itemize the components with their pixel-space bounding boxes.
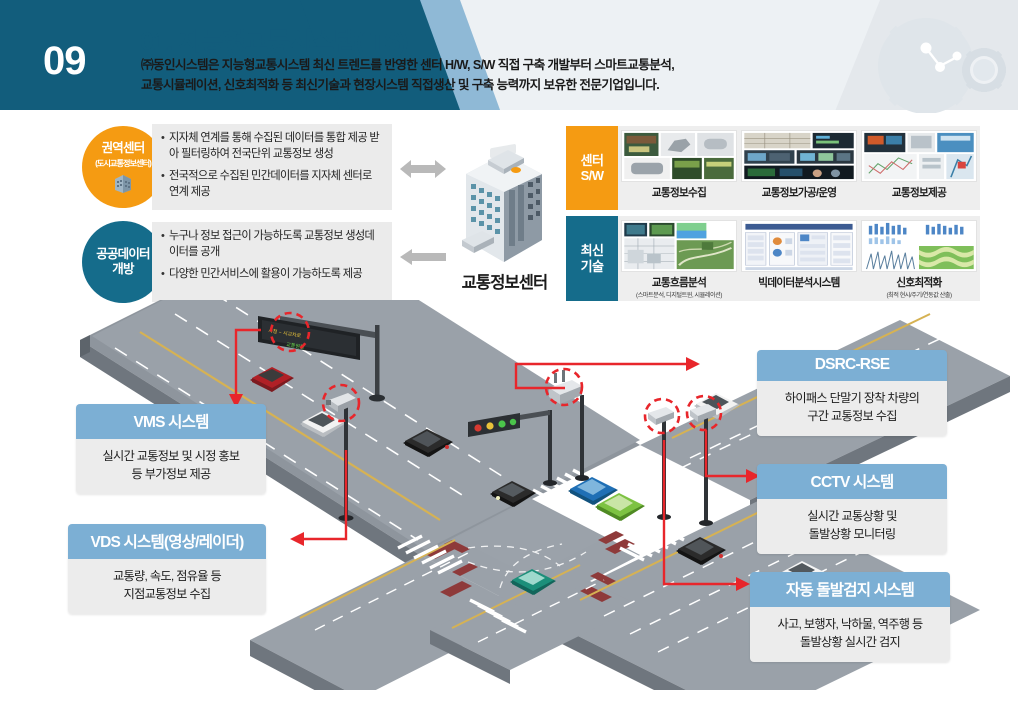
bullet-text: 다양한 민간서비스에 활용이 가능하도록 제공 [169, 267, 383, 283]
circle-regional-subtitle: (도시교통정보센터) [95, 157, 151, 169]
capability-caption: 교통흐름분석 [652, 275, 706, 290]
page-title: 01. 지능형교통시스템(ITS) [140, 22, 408, 58]
arrow-bidirectional-icon [400, 158, 446, 185]
callout-body: 사고, 보행자, 낙하물, 역주행 등 돌발상황 실시간 검지 [750, 607, 950, 662]
header-divider [0, 110, 1018, 113]
callout-body-line-1: 하이패스 단말기 장착 차량의 [763, 390, 941, 408]
tag-line-2: S/W [581, 168, 604, 183]
callout-title: VMS 시스템 [76, 404, 266, 439]
callout-body-line-1: 실시간 교통정보 및 시정 홍보 [82, 448, 260, 466]
capability-row-latest-tech: 최신 기술 [566, 216, 980, 301]
capability-row-center-sw: 센터 S/W [566, 126, 980, 210]
callout-body-line-2: 구간 교통정보 수집 [763, 408, 941, 426]
capability-item: 교통흐름분석 (스마트분석, 디지털트윈, 시뮬레이션) [621, 220, 737, 299]
callout-body: 교통량, 속도, 점유율 등 지점교통정보 수집 [68, 559, 266, 614]
capability-caption-sub: (최적 현시/주기/연동값 산출) [886, 290, 951, 299]
thumbnail-bigdata-system [741, 220, 857, 272]
bullet-dot: • [161, 131, 169, 163]
bullet-text: 전국적으로 수집된 민간데이터를 지자체 센터로 연계 제공 [169, 169, 383, 201]
bullet-item: • 다양한 민간서비스에 활용이 가능하도록 제공 [161, 267, 383, 283]
capability-item: 빅데이터분석시스템 [741, 220, 857, 299]
bullet-dot: • [161, 267, 169, 283]
callout-body-line-2: 돌발상황 실시간 검지 [756, 634, 944, 652]
circle-public-subtitle: 개방 [112, 262, 133, 277]
capability-caption: 교통정보가공/운영 [762, 185, 837, 200]
capability-caption: 교통정보수집 [652, 185, 706, 200]
slide-header: 09 01. 지능형교통시스템(ITS) ㈜동인시스템은 지능형교통시스템 최신… [0, 0, 1018, 113]
public-data-text-box: • 누구나 정보 접근이 가능하도록 교통정보 생성데이터를 공개 • 다양한 … [152, 222, 392, 302]
capability-caption: 빅데이터분석시스템 [758, 275, 839, 290]
capability-item: 교통정보가공/운영 [741, 130, 857, 208]
bullet-text: 누구나 정보 접근이 가능하도록 교통정보 생성데이터를 공개 [169, 229, 383, 261]
callout-title: DSRC-RSE [757, 350, 947, 381]
slide-root: 09 01. 지능형교통시스템(ITS) ㈜동인시스템은 지능형교통시스템 최신… [0, 0, 1018, 720]
thumbnail-traffic-flow-analysis [621, 220, 737, 272]
callout-body-line-1: 실시간 교통상황 및 [763, 508, 941, 526]
bullet-item: • 지자체 연계를 통해 수집된 데이터를 통합 제공 받아 필터링하여 전국단… [161, 131, 383, 163]
tag-line-2: 기술 [581, 259, 604, 274]
capability-item: 신호최적화 (최적 현시/주기/연동값 산출) [861, 220, 977, 299]
callout-card-auto-incident[interactable]: 자동 돌발검지 시스템 사고, 보행자, 낙하물, 역주행 등 돌발상황 실시간… [750, 572, 950, 662]
callout-body: 실시간 교통정보 및 시정 홍보 등 부가정보 제공 [76, 439, 266, 494]
callout-card-vds[interactable]: VDS 시스템(영상/레이더) 교통량, 속도, 점유율 등 지점교통정보 수집 [68, 524, 266, 614]
bullet-dot: • [161, 229, 169, 261]
callout-body-line-2: 지점교통정보 수집 [74, 586, 260, 604]
capability-item: 교통정보수집 [621, 130, 737, 208]
capability-item: 교통정보제공 [861, 130, 977, 208]
page-number: 09 [43, 39, 86, 84]
circle-public-title: 공공데이터 [96, 247, 150, 262]
network-nodes-icon [917, 42, 963, 76]
capability-caption-sub: (스마트분석, 디지털트윈, 시뮬레이션) [636, 290, 722, 299]
traffic-center-building-icon [452, 140, 552, 270]
callout-card-cctv[interactable]: CCTV 시스템 실시간 교통상황 및 돌발상황 모니터링 [757, 464, 947, 554]
thumbnail-signal-optimization [861, 220, 977, 272]
regional-center-text-box: • 지자체 연계를 통해 수집된 데이터를 통합 제공 받아 필터링하여 전국단… [152, 124, 392, 210]
callout-title: 자동 돌발검지 시스템 [750, 572, 950, 607]
callout-body: 하이패스 단말기 장착 차량의 구간 교통정보 수집 [757, 381, 947, 436]
callout-title: CCTV 시스템 [757, 464, 947, 499]
capability-panel: 센터 S/W [566, 126, 980, 301]
gear-small-icon [962, 48, 1006, 92]
bullet-text: 지자체 연계를 통해 수집된 데이터를 통합 제공 받아 필터링하여 전국단위 … [169, 131, 383, 163]
callout-body-line-1: 사고, 보행자, 낙하물, 역주행 등 [756, 616, 944, 634]
arrow-left-icon [400, 248, 446, 271]
callout-card-dsrc[interactable]: DSRC-RSE 하이패스 단말기 장착 차량의 구간 교통정보 수집 [757, 350, 947, 436]
tag-line-1: 최신 [581, 243, 604, 258]
callout-body-line-2: 돌발상황 모니터링 [763, 526, 941, 544]
capability-caption: 교통정보제공 [892, 185, 946, 200]
callout-body-line-2: 등 부가정보 제공 [82, 466, 260, 484]
bullet-item: • 전국적으로 수집된 민간데이터를 지자체 센터로 연계 제공 [161, 169, 383, 201]
bullet-item: • 누구나 정보 접근이 가능하도록 교통정보 생성데이터를 공개 [161, 229, 383, 261]
callout-card-vms[interactable]: VMS 시스템 실시간 교통정보 및 시정 홍보 등 부가정보 제공 [76, 404, 266, 494]
callout-body-line-1: 교통량, 속도, 점유율 등 [74, 568, 260, 586]
capability-cells: 교통정보수집 [618, 126, 980, 210]
thumbnail-traffic-collect [621, 130, 737, 182]
callout-body: 실시간 교통상황 및 돌발상황 모니터링 [757, 499, 947, 554]
capability-tag-center-sw: 센터 S/W [566, 126, 618, 210]
building-icon [112, 172, 134, 194]
subtitle-line-1: ㈜동인시스템은 지능형교통시스템 최신 트렌드를 반영한 센터 H/W, S/W… [141, 56, 674, 76]
cctv-pole-left [648, 407, 674, 520]
circle-regional-title: 권역센터 [102, 141, 145, 156]
bullet-dot: • [161, 169, 169, 201]
traffic-center-label: 교통정보센터 [432, 269, 577, 293]
capability-tag-latest-tech: 최신 기술 [566, 216, 618, 301]
subtitle-line-2: 교통시뮬레이션, 신호최적화 등 최신기술과 현장시스템 직접생산 및 구축 능… [141, 76, 674, 96]
capability-cells: 교통흐름분석 (스마트분석, 디지털트윈, 시뮬레이션) [618, 216, 980, 301]
page-subtitle: ㈜동인시스템은 지능형교통시스템 최신 트렌드를 반영한 센터 H/W, S/W… [141, 56, 674, 95]
thumbnail-traffic-provide [861, 130, 977, 182]
callout-title: VDS 시스템(영상/레이더) [68, 524, 266, 559]
tag-line-1: 센터 [581, 153, 604, 168]
thumbnail-traffic-operation [741, 130, 857, 182]
capability-caption: 신호최적화 [896, 275, 941, 290]
